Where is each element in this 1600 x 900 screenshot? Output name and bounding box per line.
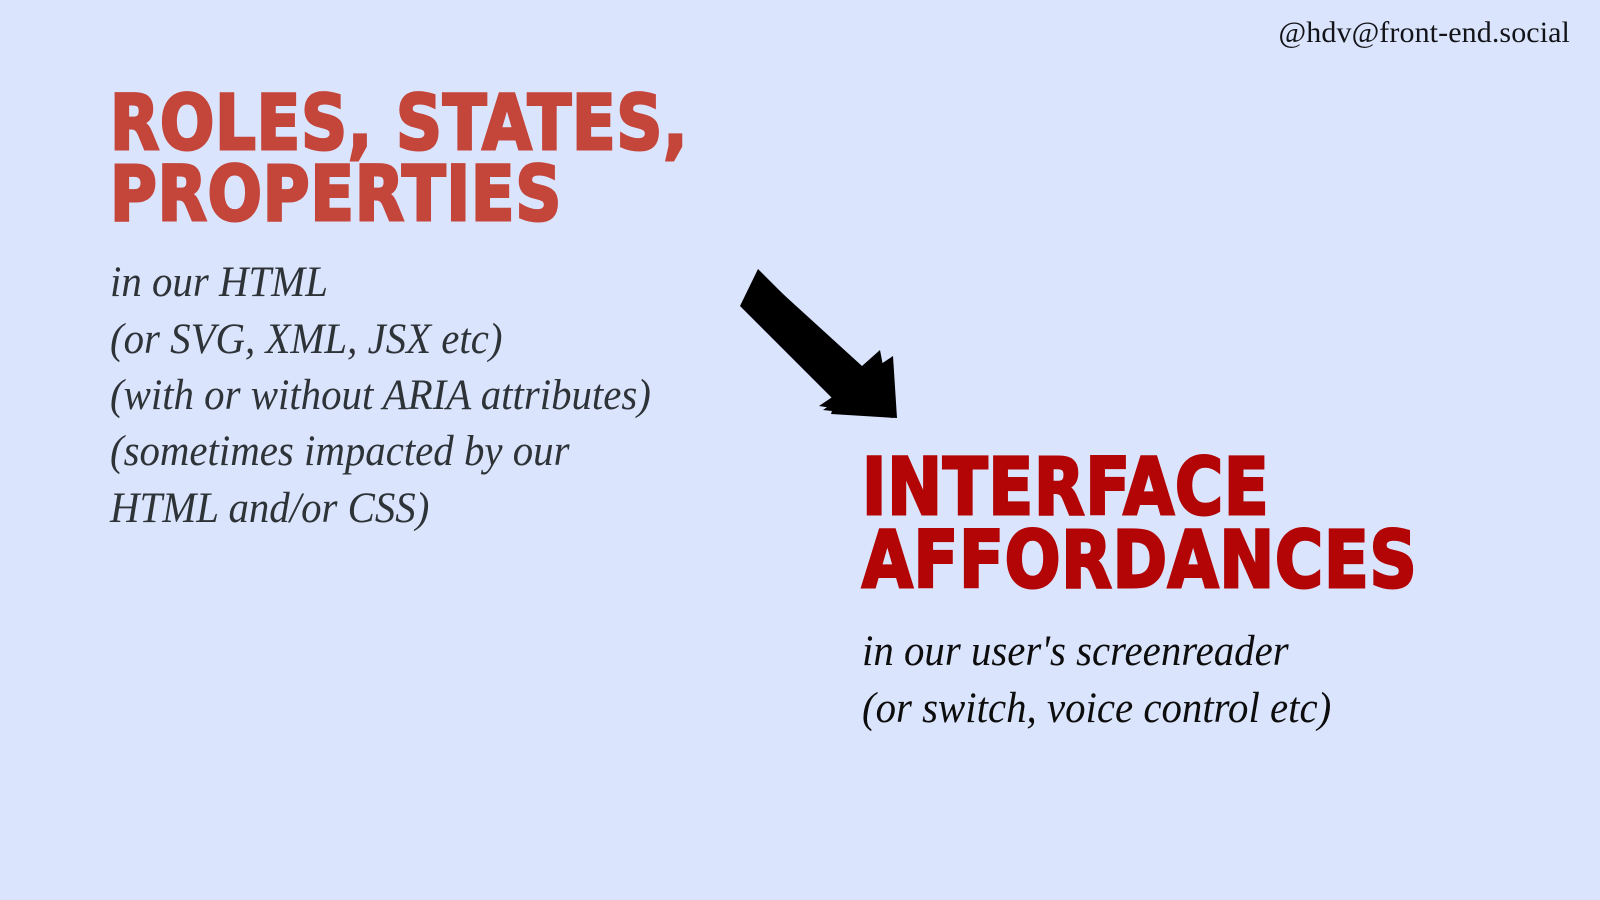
left-block: ROLES, STATES, PROPERTIES in our HTML (o… (110, 88, 870, 537)
left-body-line-1: in our HTML (110, 255, 832, 311)
slide-canvas: @hdv@front-end.social ROLES, STATES, PRO… (0, 0, 1600, 900)
right-body-line-2: (or switch, voice control etc) (862, 680, 1527, 737)
left-body: in our HTML (or SVG, XML, JSX etc) (with… (110, 229, 832, 537)
left-body-line-3: (with or without ARIA attributes) (110, 368, 832, 424)
right-body-line-1: in our user's screenreader (862, 623, 1527, 680)
left-heading-line-2: PROPERTIES (110, 159, 748, 230)
left-body-line-4: (sometimes impacted by our (110, 424, 832, 480)
social-handle: @hdv@front-end.social (1279, 16, 1570, 50)
left-body-line-2: (or SVG, XML, JSX etc) (110, 312, 832, 368)
left-heading: ROLES, STATES, PROPERTIES (110, 88, 748, 229)
right-block: INTERFACE AFFORDANCES in our user's scre… (862, 452, 1562, 737)
right-heading-line-2: AFFORDANCES (862, 525, 1450, 598)
right-heading-line-1: INTERFACE (862, 452, 1450, 525)
right-heading: INTERFACE AFFORDANCES (862, 452, 1450, 597)
right-body: in our user's screenreader (or switch, v… (862, 597, 1527, 737)
left-body-line-5: HTML and/or CSS) (110, 481, 832, 537)
